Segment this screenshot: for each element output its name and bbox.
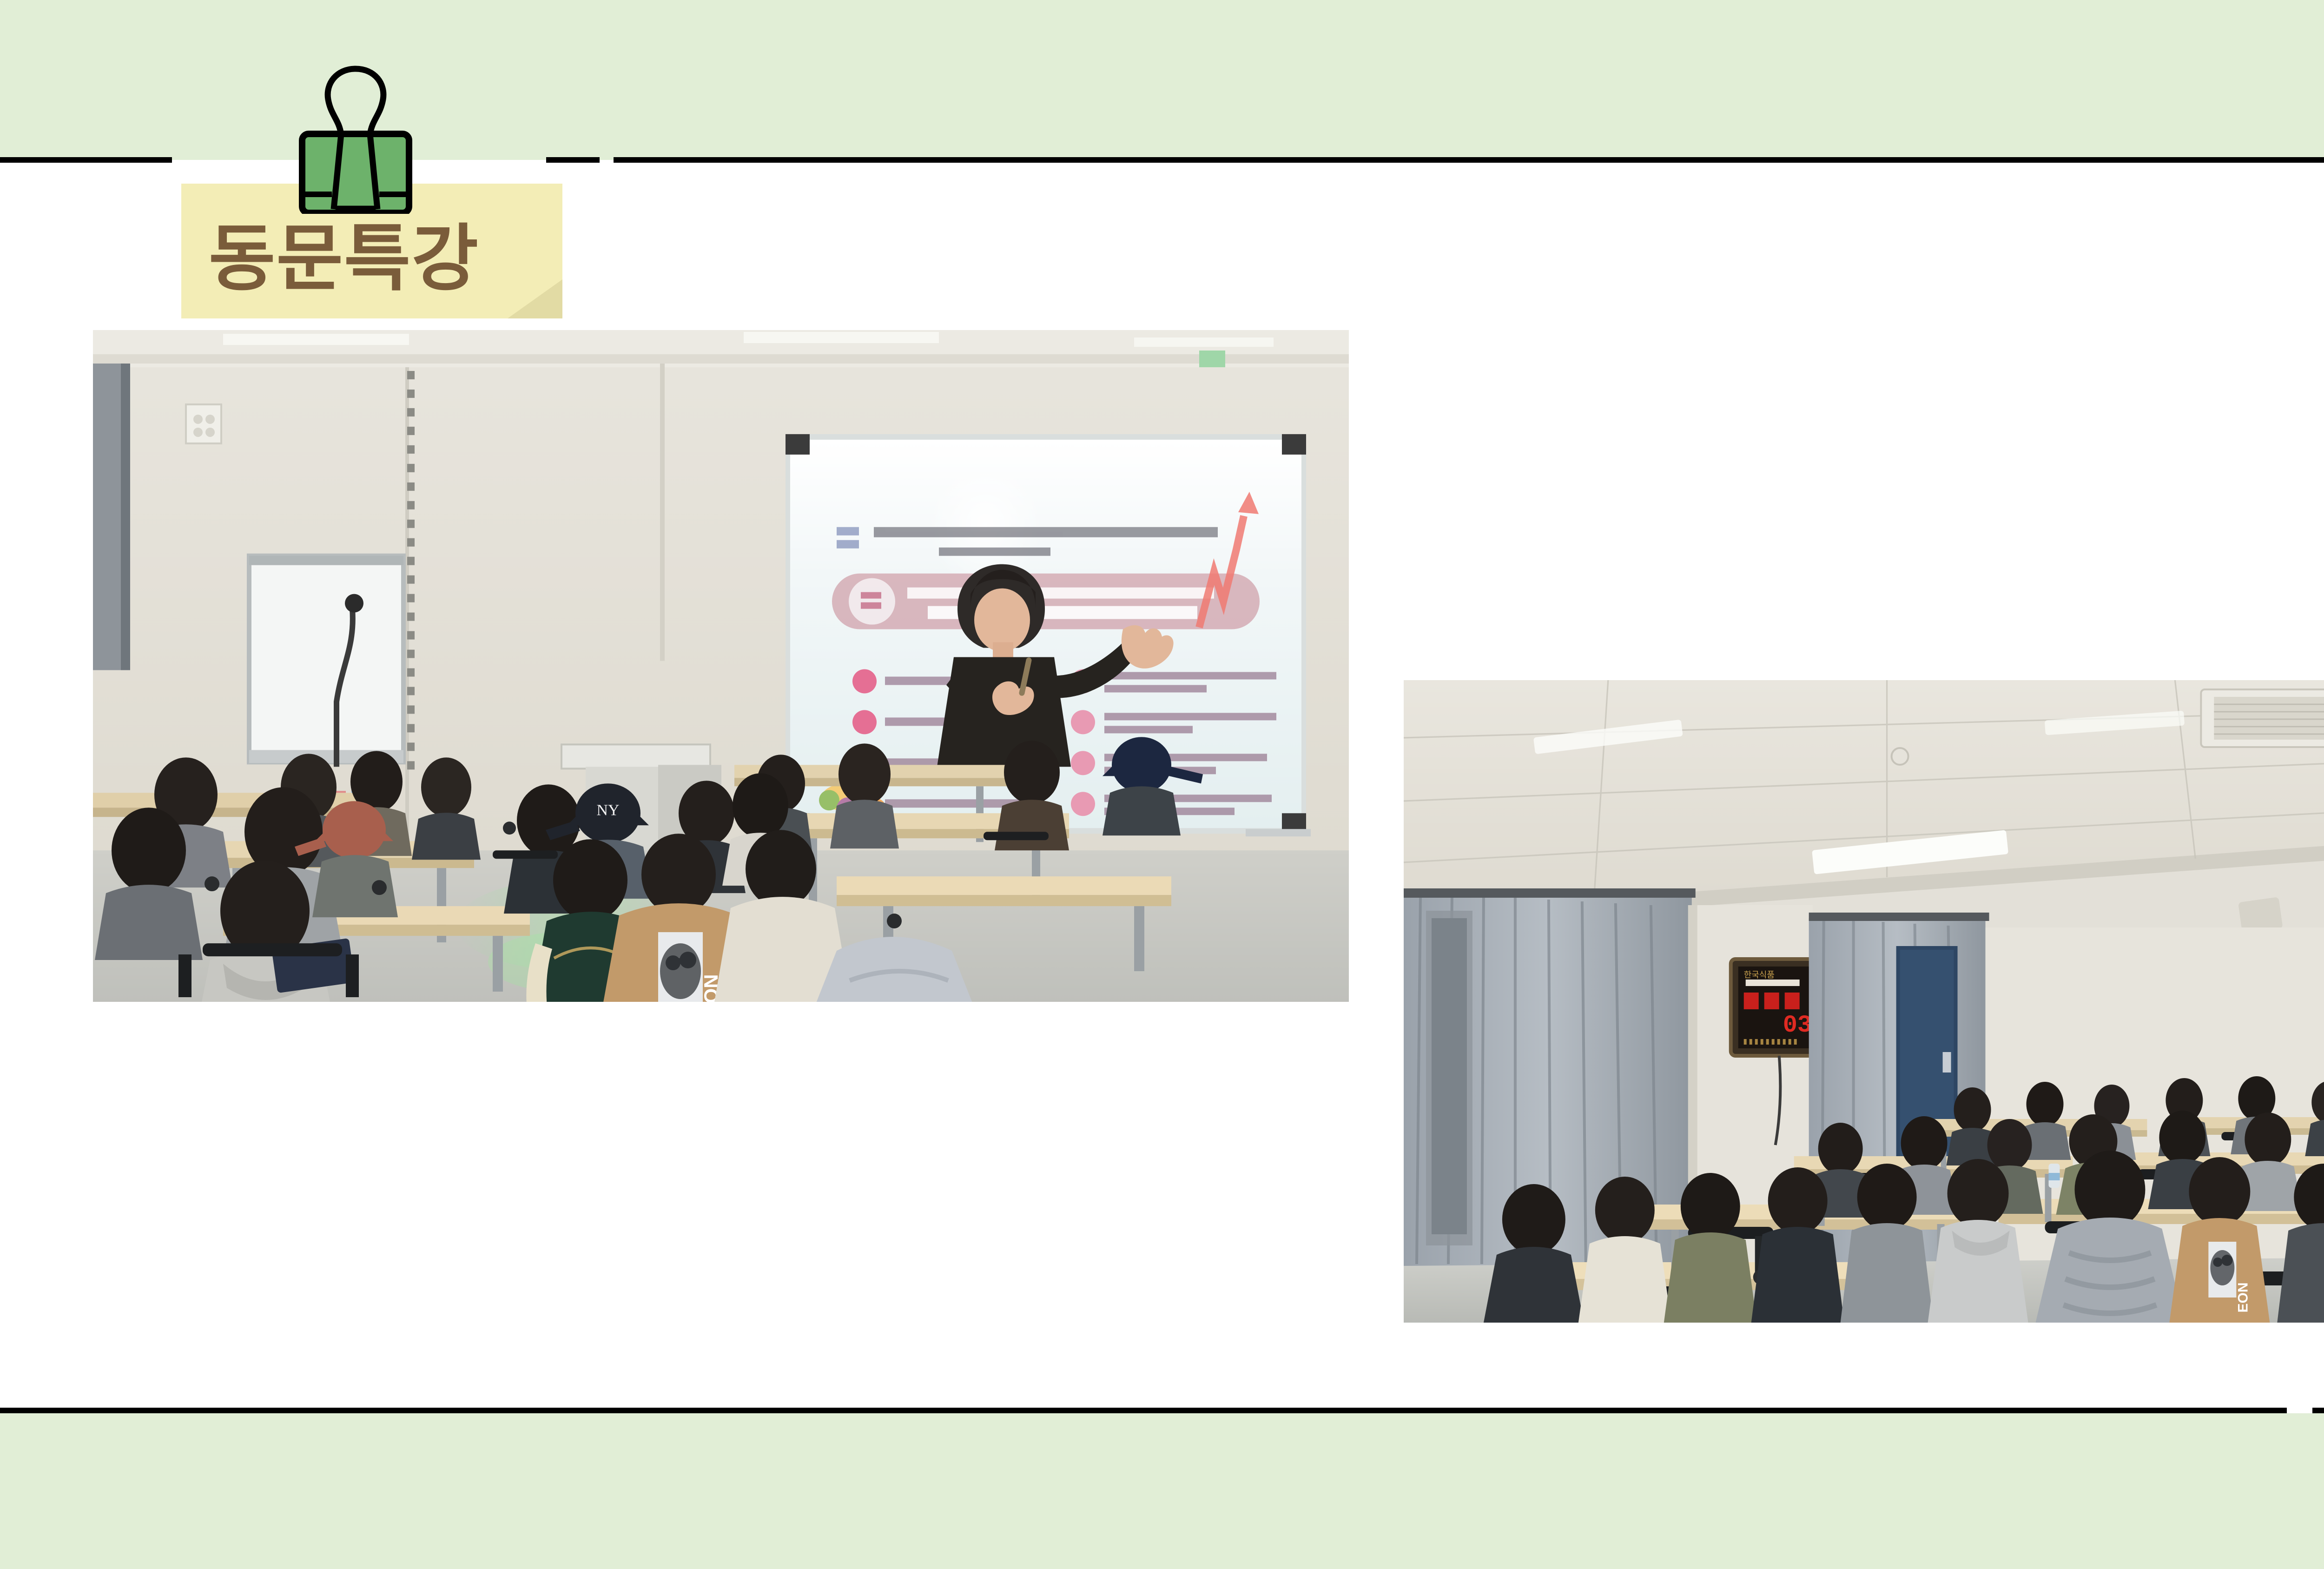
svg-text:NY: NY bbox=[596, 801, 619, 819]
bottom-rule-segment-1 bbox=[0, 1408, 2287, 1413]
top-rule-segment-2 bbox=[546, 157, 600, 163]
binder-clip-left bbox=[284, 60, 428, 214]
bottom-green-band bbox=[0, 1413, 2324, 1569]
bottom-rule-segment-2 bbox=[2312, 1408, 2324, 1413]
svg-text:EON: EON bbox=[2235, 1283, 2251, 1313]
presentation-slide: 동문특강 bbox=[0, 0, 2324, 1569]
photo-lecture-wide: 한국식품 03 bbox=[1404, 680, 2324, 1323]
top-rule-segment-3 bbox=[614, 157, 2324, 163]
svg-text:한국식품: 한국식품 bbox=[1744, 970, 1775, 980]
svg-text:03: 03 bbox=[1783, 1012, 1812, 1039]
photo-lecture-front: NY bbox=[93, 330, 1349, 1002]
top-rule-segment-1 bbox=[0, 157, 172, 163]
